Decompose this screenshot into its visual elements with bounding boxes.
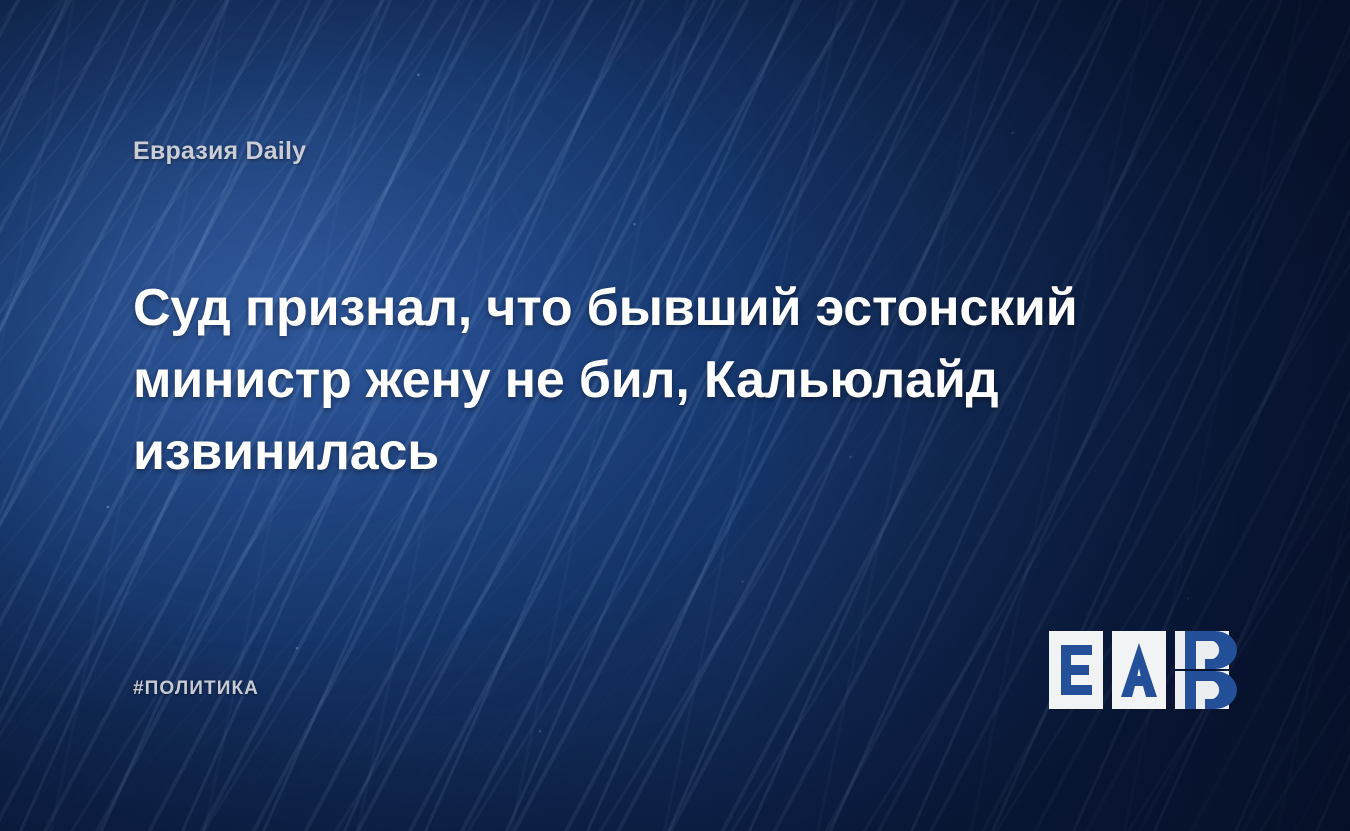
- category-hashtag[interactable]: #ПОЛИТИКА: [133, 678, 259, 700]
- eadaily-logo[interactable]: [1049, 631, 1229, 709]
- letter-d-icon: [1175, 631, 1229, 709]
- letter-e-icon: [1049, 631, 1103, 709]
- brand-label: Евразия Daily: [133, 137, 306, 166]
- card-content: Евразия Daily Суд признал, что бывший эс…: [0, 0, 1350, 831]
- headline: Суд признал, что бывший эстонский минист…: [133, 272, 1133, 488]
- logo-tile-e: [1049, 631, 1103, 709]
- logo-tile-d: [1175, 631, 1229, 709]
- news-card: Евразия Daily Суд признал, что бывший эс…: [0, 0, 1350, 831]
- letter-a-icon: [1112, 631, 1166, 709]
- logo-tile-a: [1112, 631, 1166, 709]
